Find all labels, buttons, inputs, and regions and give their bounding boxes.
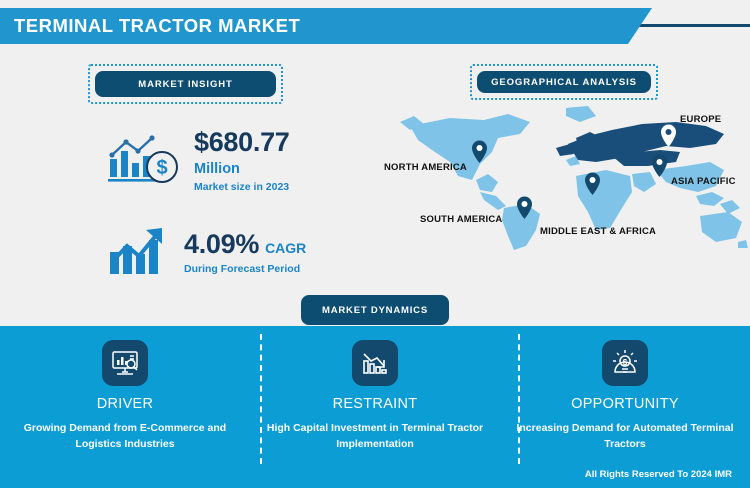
market-dynamics-badge: MARKET DYNAMICS xyxy=(301,295,449,325)
bar-chart-dollar-icon: $ xyxy=(108,129,182,192)
market-size-caption: Market size in 2023 xyxy=(194,181,290,193)
map-label-middle-east-africa: MIDDLE EAST & AFRICA xyxy=(540,226,656,237)
market-insight-label: MARKET INSIGHT xyxy=(138,79,232,90)
opportunity-card: $ OPPORTUNITY Increasing Demand for Auto… xyxy=(500,326,750,488)
geographical-analysis-badge: GEOGRAPHICAL ANALYSIS xyxy=(470,64,658,100)
map-landmass-highlight xyxy=(556,122,724,166)
driver-title: DRIVER xyxy=(97,396,154,412)
map-label-south-america: SOUTH AMERICA xyxy=(420,214,502,225)
svg-text:$: $ xyxy=(156,157,167,179)
map-label-asia-pacific: ASIA PACIFIC xyxy=(671,176,736,187)
driver-description: Growing Demand from E-Commerce and Logis… xyxy=(8,420,243,453)
geographical-analysis-label: GEOGRAPHICAL ANALYSIS xyxy=(491,77,637,88)
page-header: TERMINAL TRACTOR MARKET xyxy=(0,8,750,44)
restraint-card: RESTRAINT High Capital Investment in Ter… xyxy=(250,326,500,488)
copyright-note: All Rights Reserved To 2024 IMR xyxy=(585,469,732,480)
market-dynamics-label: MARKET DYNAMICS xyxy=(322,305,428,316)
map-label-europe: EUROPE xyxy=(680,114,721,125)
opportunity-description: Increasing Demand for Automated Terminal… xyxy=(508,420,743,453)
market-size-unit: Million xyxy=(194,161,290,177)
growth-arrow-icon xyxy=(108,224,172,281)
market-size-value: $680.77 xyxy=(194,128,290,156)
geographical-analysis-pill: GEOGRAPHICAL ANALYSIS xyxy=(477,71,651,93)
market-insight-pill: MARKET INSIGHT xyxy=(95,71,276,97)
cagr-caption: During Forecast Period xyxy=(184,263,306,275)
market-insight-badge: MARKET INSIGHT xyxy=(88,64,283,104)
world-map: NORTH AMERICA SOUTH AMERICA EUROPE ASIA … xyxy=(380,104,750,254)
cagr-value: 4.09% xyxy=(184,230,259,258)
monitor-analytics-search-icon xyxy=(102,340,148,386)
declining-bar-chart-icon xyxy=(352,340,398,386)
market-dynamics-section: DRIVER Growing Demand from E-Commerce an… xyxy=(0,326,750,488)
map-label-north-america: NORTH AMERICA xyxy=(384,162,467,173)
page-title: TERMINAL TRACTOR MARKET xyxy=(0,15,300,37)
cagr-stat: 4.09% CAGR During Forecast Period xyxy=(108,224,306,281)
header-banner: TERMINAL TRACTOR MARKET xyxy=(0,8,652,44)
svg-text:$: $ xyxy=(623,358,628,367)
restraint-title: RESTRAINT xyxy=(333,396,418,412)
opportunity-title: OPPORTUNITY xyxy=(571,396,679,412)
driver-card: DRIVER Growing Demand from E-Commerce an… xyxy=(0,326,250,488)
cagr-suffix: CAGR xyxy=(265,240,306,256)
lightbulb-dollar-icon: $ xyxy=(602,340,648,386)
market-size-stat: $ $680.77 Million Market size in 2023 xyxy=(108,128,290,193)
restraint-description: High Capital Investment in Terminal Trac… xyxy=(258,420,493,453)
